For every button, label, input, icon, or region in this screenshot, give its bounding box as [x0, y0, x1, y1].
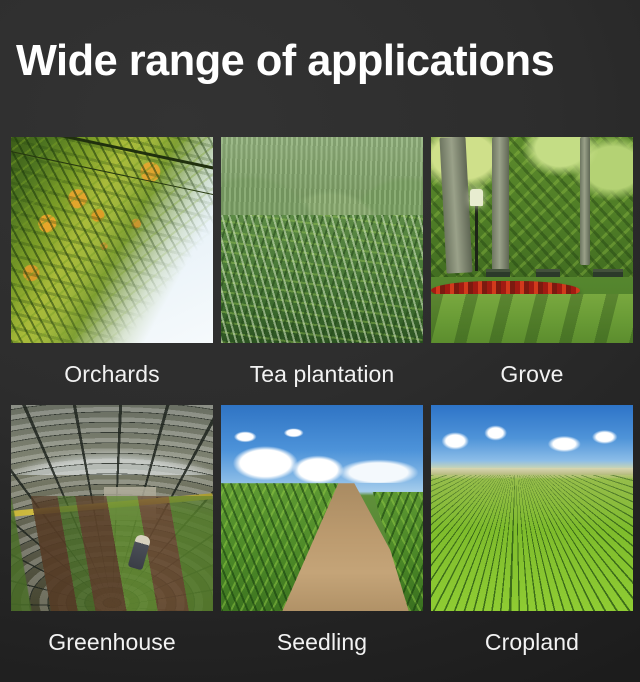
- lamp-post: [475, 201, 478, 271]
- grass-lawn: [431, 294, 633, 343]
- gallery-cell-orchards[interactable]: Orchards: [11, 137, 213, 405]
- page-title: Wide range of applications: [16, 38, 619, 84]
- park-bench: [536, 269, 560, 277]
- caption-grove: Grove: [431, 343, 633, 405]
- application-grid: Orchards Tea plantation: [11, 137, 629, 673]
- clouds: [431, 413, 633, 462]
- tree-trunk: [580, 137, 590, 265]
- cropland-rows-photo: [431, 405, 633, 611]
- thumbnail-grove[interactable]: [431, 137, 633, 343]
- caption-orchards: Orchards: [11, 343, 213, 405]
- gallery-cell-cropland[interactable]: Cropland: [431, 405, 633, 673]
- gallery-cell-grove[interactable]: Grove: [431, 137, 633, 405]
- thumbnail-seedling[interactable]: [221, 405, 423, 611]
- tea-plantation-photo: [221, 137, 423, 343]
- tree-trunk: [492, 137, 509, 273]
- gallery-cell-tea-plantation[interactable]: Tea plantation: [221, 137, 423, 405]
- citrus-orchard-photo: [11, 137, 213, 343]
- foliage-texture: [11, 137, 213, 343]
- gallery-row: Greenhouse Seedling: [11, 405, 629, 673]
- thumbnail-tea-plantation[interactable]: [221, 137, 423, 343]
- park-bench: [486, 269, 510, 277]
- caption-tea-plantation: Tea plantation: [221, 343, 423, 405]
- field-light-sheen: [431, 475, 633, 611]
- tea-bushes: [221, 215, 423, 343]
- gallery-cell-seedling[interactable]: Seedling: [221, 405, 423, 673]
- caption-seedling: Seedling: [221, 611, 423, 673]
- planting-beds: [11, 496, 213, 611]
- caption-cropland: Cropland: [431, 611, 633, 673]
- gallery-row: Orchards Tea plantation: [11, 137, 629, 405]
- tea-hills: [221, 137, 423, 228]
- thumbnail-greenhouse[interactable]: [11, 405, 213, 611]
- thumbnail-orchards[interactable]: [11, 137, 213, 343]
- gallery-cell-greenhouse[interactable]: Greenhouse: [11, 405, 213, 673]
- caption-greenhouse: Greenhouse: [11, 611, 213, 673]
- greenhouse-polytunnel-photo: [11, 405, 213, 611]
- corn-seedling-field-photo: [221, 405, 423, 611]
- park-bench: [593, 269, 623, 277]
- thumbnail-cropland[interactable]: [431, 405, 633, 611]
- applications-gallery-page: Wide range of applications Orchards: [0, 0, 640, 682]
- clouds: [221, 417, 423, 483]
- tree-grove-park-photo: [431, 137, 633, 343]
